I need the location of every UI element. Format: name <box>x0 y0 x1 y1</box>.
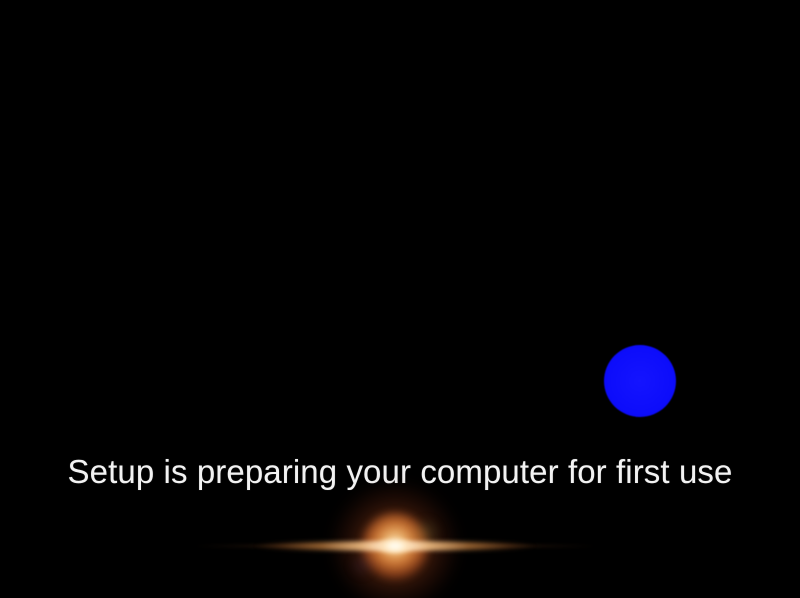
progress-dot-indicator <box>604 345 676 417</box>
lens-flare-core <box>379 538 411 554</box>
setup-screen: Setup is preparing your computer for fir… <box>0 0 800 598</box>
lens-flare-fringe-violet <box>351 554 373 576</box>
